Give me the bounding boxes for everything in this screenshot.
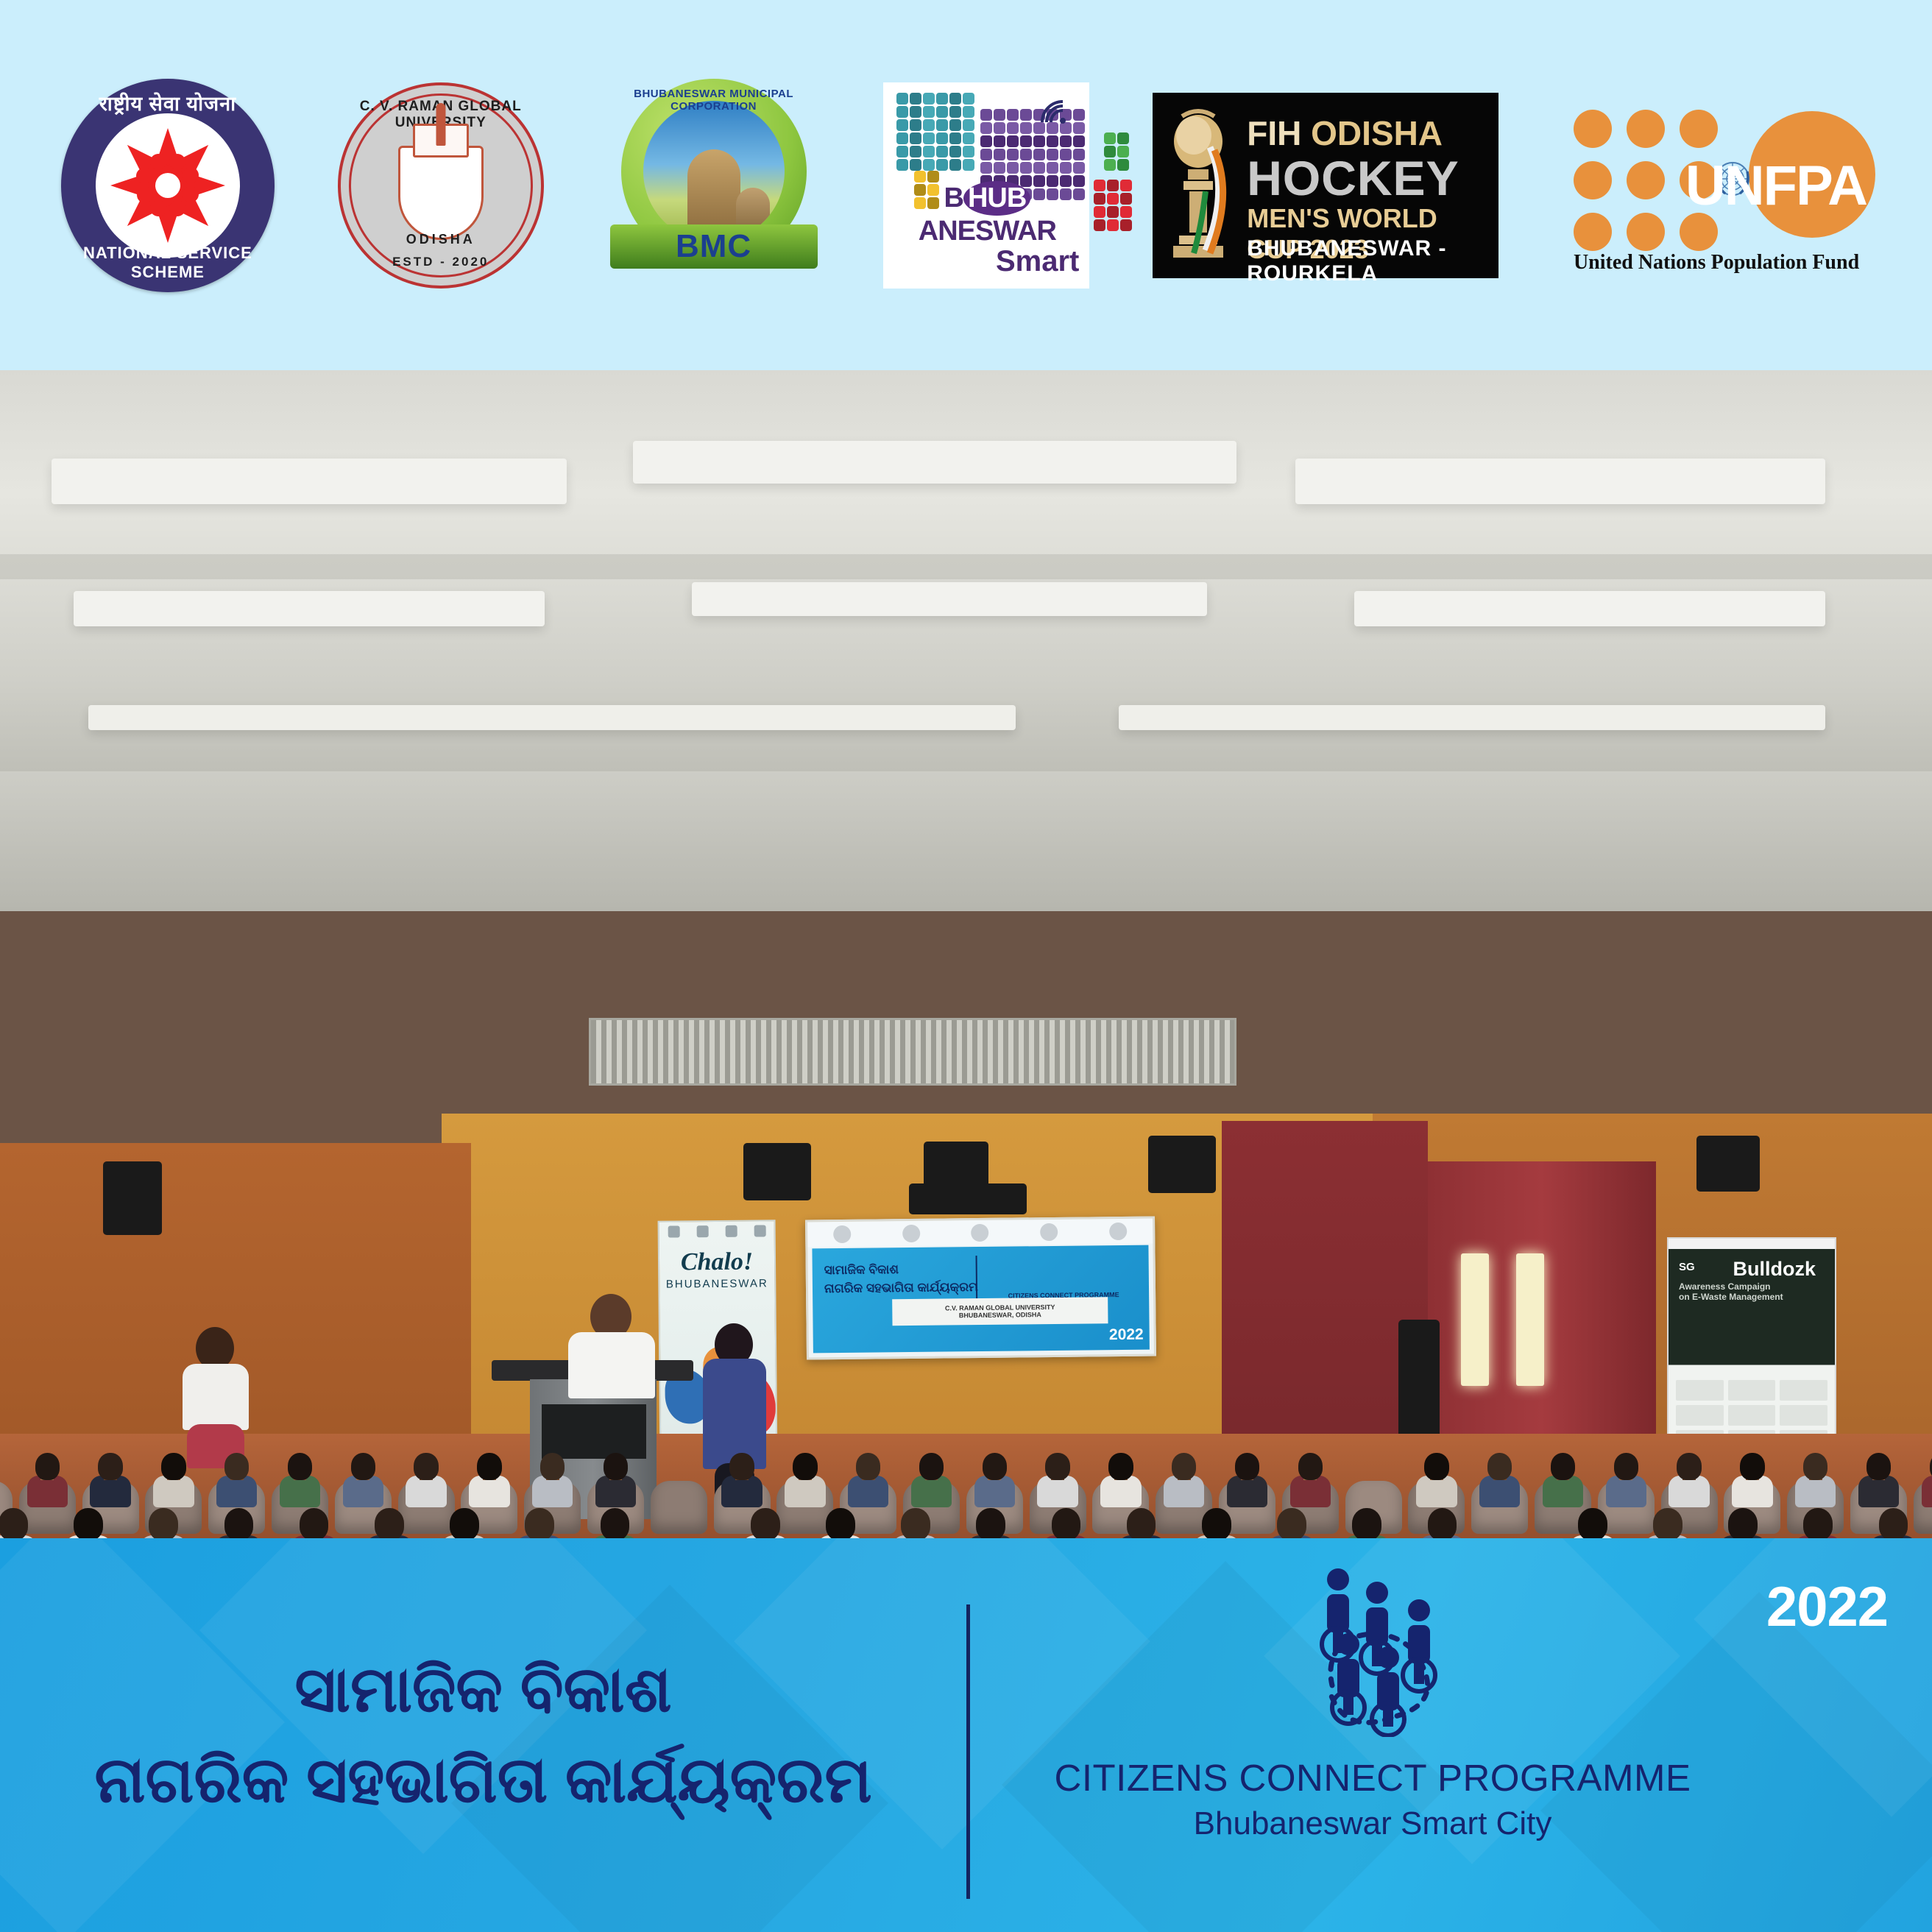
screen-venue-box: C.V. RAMAN GLOBAL UNIVERSITY BHUBANESWAR… [892,1297,1108,1326]
wifi-icon [1039,99,1073,125]
pixel-cell [923,159,935,171]
audience-member [290,1508,339,1538]
unfpa-dot [1574,213,1612,251]
head [288,1453,312,1480]
pixel-cell [1060,135,1072,147]
pixel-cell [994,149,1005,160]
head [1487,1453,1512,1480]
audience-member [1164,1453,1204,1512]
head [604,1453,628,1480]
logo-bhubaneswar-smart: BHUBANESWAR Smart [883,82,1089,289]
pixel-cell [963,93,974,105]
torso [406,1476,446,1507]
audience-member [0,1508,38,1538]
audience-member [90,1453,130,1512]
ceiling-soffit [0,771,1932,911]
audience-member [721,1453,762,1512]
pixel-cell [1007,122,1019,134]
head [1614,1453,1638,1480]
head [601,1508,630,1538]
audience-member [1922,1453,1932,1512]
pixel-cell [1020,135,1032,147]
head [1045,1453,1069,1480]
audience-member [1100,1453,1141,1512]
banner-brand: SG [1679,1261,1695,1273]
head [300,1508,329,1538]
screen-logo-icon [972,1224,989,1242]
pixel-cell [963,132,974,144]
pixel-cell [896,159,908,171]
audience-member [1267,1508,1316,1538]
head [1202,1508,1231,1538]
screen-logo-icon [1109,1222,1127,1240]
projector [909,1183,1027,1214]
audience-member [469,1453,509,1512]
pixel-cell [994,109,1005,121]
bhubaneswar-word-b: B [944,183,963,213]
hockey-world-cup-mark: FIH ODISHA HOCKEY MEN'S WORLD CUP 2023 B… [1153,93,1498,278]
pixel-cell [980,122,992,134]
banner-title: Bulldozk [1733,1258,1816,1281]
head [901,1508,930,1538]
pixel-cell [963,159,974,171]
head [1551,1453,1575,1480]
head [1172,1453,1196,1480]
pixel-cell [1094,206,1105,218]
pixel-cell [923,119,935,131]
head [1428,1508,1457,1538]
pixel-cell [980,109,992,121]
torso [27,1476,68,1507]
pixel-cell [980,135,992,147]
screen-year: 2022 [1109,1326,1144,1344]
head [224,1508,254,1538]
pixel-cell [896,106,908,118]
wall-speaker [1148,1136,1216,1193]
pixel-cell [936,159,948,171]
citizens-network-icon [1273,1568,1472,1737]
torso [595,1476,636,1507]
head [983,1453,1007,1480]
torso [1479,1476,1520,1507]
unfpa-dot [1627,161,1665,199]
head [1235,1453,1259,1480]
bhubaneswar-word-rest: ANESWAR [919,216,1056,247]
bmc-arc-text: BHUBANESWAR MUNICIPAL CORPORATION [607,88,821,113]
head [1108,1453,1133,1480]
audience-member [214,1508,263,1538]
cvrgu-seal: C. V. RAMAN GLOBAL UNIVERSITY ODISHA EST… [338,82,544,289]
audience-member [406,1453,446,1512]
torso [1037,1476,1078,1507]
footer-odia-line-2: ନାଗରିକ ସହଭାଗିତା କାର୍ଯ୍ୟକ୍ରମ [94,1745,871,1816]
pixel-cell [980,162,992,174]
head [1127,1508,1156,1538]
audience-member [741,1508,790,1538]
pixel-cell [910,132,921,144]
footer-year: 2022 [1766,1575,1888,1639]
pixel-cell [1104,159,1116,171]
audience-member [365,1508,414,1538]
audience-member [848,1453,888,1512]
pixel-cell [949,119,961,131]
head [1677,1453,1701,1480]
pixel-cell [1117,146,1129,158]
footer-odia-title-block: ସାମାଜିକ ବିକାଶ ନାଗରିକ ସହଭାଗିତା କାର୍ଯ୍ୟକ୍ର… [0,1538,966,1932]
head [35,1453,60,1480]
head [375,1508,404,1538]
pixel-cell [923,93,935,105]
audience-member [1669,1453,1709,1512]
audience-member [1290,1453,1331,1512]
pen-nib-icon [436,103,445,146]
bhubaneswar-wordmark: BHUBANESWAR [891,181,1083,247]
torso [911,1476,952,1507]
pixel-cell [910,93,921,105]
pixel-cell [1007,109,1019,121]
pixel-cell [1007,162,1019,174]
pixel-cell [1060,162,1072,174]
ceiling-air-vent [589,1018,1236,1086]
lingaraj-temple-icon [643,101,785,242]
pixel-cell [936,119,948,131]
audience-member [1342,1508,1391,1538]
head [450,1508,479,1538]
pixel-cell [923,146,935,158]
unfpa-dot [1574,110,1612,148]
pixel-cell [936,93,948,105]
audience-member [1643,1508,1692,1538]
torso [532,1476,573,1507]
head [793,1453,817,1480]
audience-member [1192,1508,1241,1538]
cvrgu-odisha-text: ODISHA [341,232,541,247]
partner-logo-strip: राष्ट्रीय सेवा योजना NATIONAL SERVICE SC… [0,0,1932,370]
pixel-cell [994,162,1005,174]
odisha-text: ODISHA [1301,114,1443,152]
audience-member [27,1453,68,1512]
auditorium-event-photo: ସାମାଜିକ ବିକାଶ ନାଗରିକ ସହଭାଗିତା କାର୍ଯ୍ୟକ୍ର… [0,370,1932,1538]
pixel-cell [1107,206,1119,218]
head [540,1453,565,1480]
head [74,1508,103,1538]
torso [153,1476,194,1507]
audience-member [911,1453,952,1512]
torso [1100,1476,1141,1507]
standee-title: Chalo! [659,1248,774,1276]
audience-member [966,1508,1015,1538]
torso [1922,1476,1932,1507]
footer-programme-title: CITIZENS CONNECT PROGRAMME [1055,1756,1691,1800]
nss-wheel [96,113,240,258]
pixel-cell [896,119,908,131]
pixel-cell [1073,149,1085,160]
pixel-cell [1020,149,1032,160]
pixel-cell [963,119,974,131]
bmc-ribbon: BMC [610,224,818,269]
audience-member [1869,1508,1917,1538]
head [1653,1508,1682,1538]
audience-member [590,1508,639,1538]
audience-member [343,1453,383,1512]
torso [1416,1476,1457,1507]
cvrgu-shield-icon [398,146,484,240]
head [976,1508,1005,1538]
banner-subtitle: Awareness Campaign on E-Waste Management [1679,1281,1783,1302]
audience-member [1416,1453,1457,1512]
pixel-cell [896,93,908,105]
audience-member [532,1453,573,1512]
pixel-cell [949,159,961,171]
head [1728,1508,1758,1538]
nss-name-text: NATIONAL SERVICE SCHEME [61,244,275,282]
torso [343,1476,383,1507]
pixel-cell [1104,146,1116,158]
head [1803,1453,1827,1480]
standee-subtitle: BHUBANESWAR [659,1277,774,1290]
head [1866,1453,1891,1480]
torso [1543,1476,1583,1507]
bhubaneswar-word-hub: HUB [963,181,1030,216]
pixel-cell [994,122,1005,134]
pixel-cell [1047,135,1058,147]
pixel-cell [949,93,961,105]
head [351,1453,375,1480]
audience-member [153,1453,194,1512]
pixel-cell [1060,149,1072,160]
audience-member [1794,1508,1842,1538]
screen-slide-body: ସାମାଜିକ ବିକାଶ ନାଗରିକ ସହଭାଗିତା କାର୍ଯ୍ୟକ୍ର… [812,1245,1149,1354]
unfpa-dot [1680,110,1718,148]
head [1352,1508,1381,1538]
audience-member [440,1508,489,1538]
hockey-line-fih-odisha: FIH ODISHA [1247,113,1443,153]
audience-member [515,1508,564,1538]
audience-member [280,1453,320,1512]
logo-unfpa: UNFPA United Nations Population Fund [1562,93,1871,277]
pixel-cell [1094,193,1105,205]
audience-member [1227,1453,1267,1512]
pixel-cell [1020,122,1032,134]
pixel-cell [923,132,935,144]
torso [1227,1476,1267,1507]
audience-member [1719,1508,1767,1538]
unfpa-dot [1627,213,1665,251]
audience-member [816,1508,865,1538]
audience-member [1418,1508,1466,1538]
smart-wordmark: Smart [996,245,1079,278]
audience-member [1795,1453,1836,1512]
head [856,1453,880,1480]
head [1424,1453,1448,1480]
audience-member [1041,1508,1090,1538]
screen-logo-icon [902,1225,920,1242]
pixel-cell [1073,135,1085,147]
unfpa-dot [1627,110,1665,148]
torso [1669,1476,1709,1507]
torso [1290,1476,1331,1507]
pixel-cell [1104,132,1116,144]
screen-logo-row [807,1219,1153,1248]
pixel-cell [910,159,921,171]
pixel-cell [1020,109,1032,121]
head [1578,1508,1607,1538]
head [919,1453,944,1480]
audience-member [216,1453,257,1512]
pixel-cell [1047,162,1058,174]
audience-member [891,1508,940,1538]
screen-logo-icon [833,1225,851,1243]
audience-member [1479,1453,1520,1512]
torso [469,1476,509,1507]
head [224,1453,249,1480]
pixel-cell [1073,122,1085,134]
audience-member [139,1508,188,1538]
screen-odia-text: ସାମାଜିକ ବିକାଶ ନାଗରିକ ସହଭାଗିତା କାର୍ଯ୍ୟକ୍ର… [824,1260,978,1298]
audience-member [595,1453,636,1512]
wall-speaker [103,1161,162,1235]
audience-member [1117,1508,1166,1538]
head [1740,1453,1764,1480]
torso [1164,1476,1204,1507]
auditorium-chair [651,1481,707,1534]
head [751,1508,780,1538]
audience-member [974,1453,1015,1512]
head [1277,1508,1306,1538]
audience-member [1037,1453,1078,1512]
footer-programme-subtitle: Bhubaneswar Smart City [1194,1805,1552,1842]
pixel-cell [1107,193,1119,205]
pixel-cell [1120,180,1132,191]
torso [90,1476,130,1507]
head [525,1508,554,1538]
head [0,1508,28,1538]
pixel-cell [896,132,908,144]
audience-crowd [0,1423,1932,1538]
pixel-cell [963,106,974,118]
pixel-cell [910,146,921,158]
unfpa-mark: UNFPA United Nations Population Fund [1562,93,1871,277]
pixel-cell [1073,109,1085,121]
pixel-cell [1117,159,1129,171]
audience-member [1543,1453,1583,1512]
pixel-cell [1094,180,1105,191]
audience-member [64,1508,113,1538]
head [477,1453,501,1480]
torso [721,1476,762,1507]
head [826,1508,855,1538]
head [161,1453,185,1480]
footer-odia-line-1: ସାମାଜିକ ବିକାଶ [294,1655,671,1725]
footer-divider [966,1604,970,1899]
pixel-cell [1073,162,1085,174]
speaker-at-podium [567,1294,655,1390]
hockey-line-host-cities: BHUBANESWAR - ROURKELA [1247,236,1498,286]
unfpa-dot [1574,161,1612,199]
trophy-icon [1166,103,1231,268]
head [1803,1508,1833,1538]
torso [1606,1476,1646,1507]
nss-hindi-text: राष्ट्रीय सेवा योजना [61,89,275,116]
cvrgu-estd-text: ESTD - 2020 [341,255,541,269]
pixel-cell [949,106,961,118]
audience-member [1606,1453,1646,1512]
logo-bhubaneswar-municipal-corporation: BHUBANESWAR MUNICIPAL CORPORATION BMC [607,79,821,292]
pixel-cell [896,146,908,158]
wall-speaker [1696,1136,1760,1192]
pixel-cell [1107,219,1119,231]
pixel-cell [923,106,935,118]
torso [216,1476,257,1507]
audience-member [1568,1508,1617,1538]
torso [280,1476,320,1507]
torso [1732,1476,1772,1507]
head [1052,1508,1081,1538]
unfpa-dot [1680,213,1718,251]
torso [974,1476,1015,1507]
pixel-cell [1007,135,1019,147]
unfpa-caption: United Nations Population Fund [1562,251,1871,275]
pixel-cell [1120,219,1132,231]
wall-speaker [743,1143,811,1200]
pixel-cell [949,132,961,144]
pixel-cell [963,146,974,158]
pixel-cell [910,119,921,131]
pixel-cell [1094,219,1105,231]
pixel-cell [1107,180,1119,191]
screen-logo-icon [1040,1223,1058,1241]
logo-national-service-scheme: राष्ट्रीय सेवा योजना NATIONAL SERVICE SC… [61,79,275,292]
audience-member [785,1453,825,1512]
pixel-cell [936,132,948,144]
fih-text: FIH [1247,114,1301,152]
audience-member [1732,1453,1772,1512]
torso [848,1476,888,1507]
logo-cv-raman-global-university: C. V. RAMAN GLOBAL UNIVERSITY ODISHA EST… [338,82,544,289]
projection-screen: ସାମାଜିକ ବିକାଶ ନାଗରିକ ସହଭାଗିତା କାର୍ଯ୍ୟକ୍ର… [805,1217,1156,1360]
pixel-cell [1120,206,1132,218]
pixel-cell [936,146,948,158]
pixel-cell [1020,162,1032,174]
pixel-cell [980,149,992,160]
bmc-seal: BHUBANESWAR MUNICIPAL CORPORATION BMC [607,79,821,292]
pixel-cell [910,106,921,118]
bhubaneswar-smart-mark: BHUBANESWAR Smart [883,82,1089,289]
nss-emblem: राष्ट्रीय सेवा योजना NATIONAL SERVICE SC… [61,79,275,292]
head [1879,1508,1908,1538]
pixel-cell [1033,149,1045,160]
bmc-abbreviation: BMC [676,228,751,265]
audience-member [1858,1453,1899,1512]
pixel-cell [1047,149,1058,160]
torso [1858,1476,1899,1507]
head [414,1453,438,1480]
unfpa-letters: UNFPA [1685,154,1866,218]
torso [785,1476,825,1507]
head [1298,1453,1323,1480]
footer-programme-block: CITIZENS CONNECT PROGRAMME Bhubaneswar S… [986,1538,1759,1932]
pixel-cell [1117,132,1129,144]
hockey-line-hockey: HOCKEY [1247,150,1459,206]
pixel-cell [949,146,961,158]
poster-canvas: राष्ट्रीय सेवा योजना NATIONAL SERVICE SC… [0,0,1932,1932]
pixel-cell [1120,193,1132,205]
torso [1795,1476,1836,1507]
logo-fih-odisha-hockey-world-cup: FIH ODISHA HOCKEY MEN'S WORLD CUP 2023 B… [1153,93,1498,278]
pixel-cell [1007,149,1019,160]
pixel-cell [1033,162,1045,174]
head [98,1453,122,1480]
